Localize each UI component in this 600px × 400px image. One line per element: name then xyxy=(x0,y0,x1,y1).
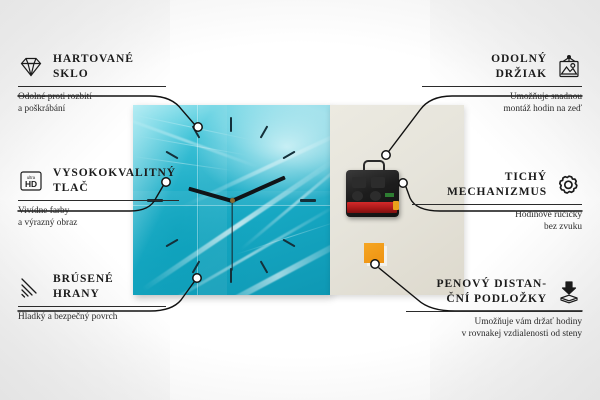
feature-print-quality: ultra HD VYSOKOKVALITNÝ TLAČ Vivídne far… xyxy=(18,166,188,229)
node-brushed-edges xyxy=(193,274,201,282)
feature-title-line1: HARTOVANÉ xyxy=(53,52,134,67)
node-mechanism xyxy=(399,179,407,187)
brushed-edges-icon xyxy=(18,275,44,299)
feature-divider xyxy=(18,200,179,201)
feature-subtitle-line1: Umožňuje snadnou xyxy=(422,91,582,103)
feature-divider xyxy=(412,204,582,205)
feature-title-line2: HRANY xyxy=(53,287,114,302)
node-hanger xyxy=(382,151,390,159)
feature-title-line2: DRŽIAK xyxy=(422,67,547,82)
feature-subtitle-line2: a výrazný obraz xyxy=(18,217,188,229)
feature-subtitle-line1: Odolné proti rozbití xyxy=(18,91,178,103)
feature-title-line2: TLAČ xyxy=(53,181,176,196)
feature-subtitle-line2: v rovnakej vzdialenosti od steny xyxy=(406,328,582,340)
infographic-canvas: HARTOVANÉ SKLO Odolné proti rozbití a po… xyxy=(0,0,600,400)
svg-text:HD: HD xyxy=(25,179,37,189)
feature-brushed-edges: BRÚSENÉ HRANY Hladký a bezpečný povrch xyxy=(18,272,178,323)
feature-title-line2: ČNÍ PODLOŽKY xyxy=(406,292,547,307)
feature-divider xyxy=(422,86,582,87)
feature-subtitle-line1: Umožňuje vám držať hodiny xyxy=(406,316,582,328)
feature-title-line2: MECHANIZMUS xyxy=(412,185,547,200)
feature-tempered-glass: HARTOVANÉ SKLO Odolné proti rozbití a po… xyxy=(18,52,178,115)
feature-subtitle-line1: Vivídne farby xyxy=(18,205,188,217)
foam-spacer-icon xyxy=(556,280,582,304)
feature-subtitle-line1: Hodinové ručičky xyxy=(412,209,582,221)
node-foam-spacer xyxy=(371,260,379,268)
feature-title-line1: BRÚSENÉ xyxy=(53,272,114,287)
feature-title-line1: VYSOKOKVALITNÝ xyxy=(53,166,176,181)
ultra-hd-icon: ultra HD xyxy=(18,169,44,193)
feature-subtitle-line2: montáž hodin na zeď xyxy=(422,103,582,115)
feature-title-line1: ODOLNÝ xyxy=(422,52,547,67)
feature-foam-spacers: PENOVÝ DISTAN- ČNÍ PODLOŽKY Umožňuje vám… xyxy=(406,277,582,340)
node-tempered-glass xyxy=(194,123,202,131)
feature-divider xyxy=(18,306,166,307)
feature-title-line1: PENOVÝ DISTAN- xyxy=(406,277,547,292)
picture-hanger-icon xyxy=(556,55,582,79)
feature-divider xyxy=(406,311,582,312)
feature-subtitle-line2: a poškrábání xyxy=(18,103,178,115)
feature-subtitle-line2: bez zvuku xyxy=(412,221,582,233)
feature-divider xyxy=(18,86,166,87)
feature-subtitle-line1: Hladký a bezpečný povrch xyxy=(18,311,178,323)
diamond-icon xyxy=(18,55,44,79)
feature-title-line2: SKLO xyxy=(53,67,134,82)
feature-durable-hanger: ODOLNÝ DRŽIAK Umožňuje snadnou mont xyxy=(422,52,582,115)
feature-silent-mechanism: TICHÝ MECHANIZMUS Hodinové ručičky bez z… xyxy=(412,170,582,233)
gear-icon xyxy=(556,173,582,197)
feature-title-line1: TICHÝ xyxy=(412,170,547,185)
